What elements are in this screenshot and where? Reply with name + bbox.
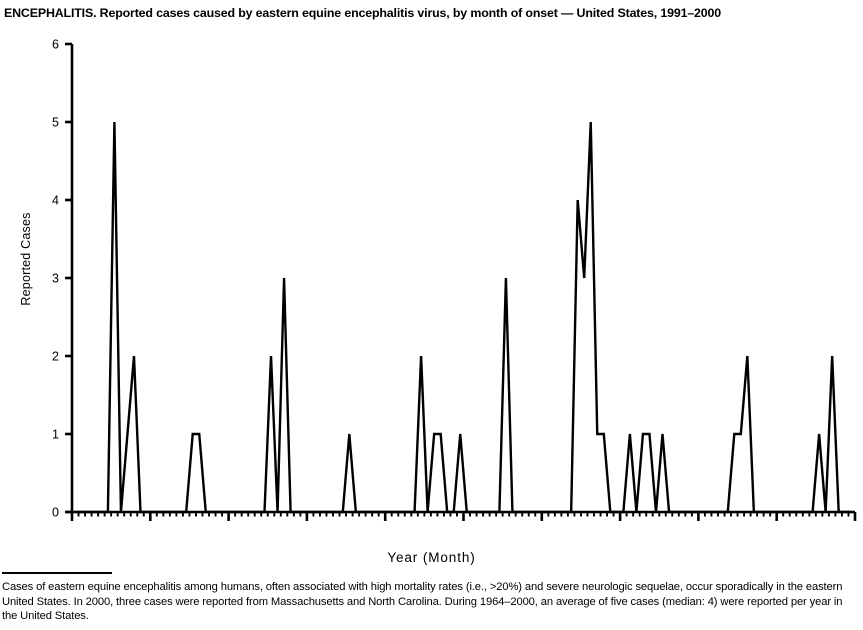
page-title: ENCEPHALITIS. Reported cases caused by e… <box>4 6 860 21</box>
footnote-text: Cases of eastern equine encephalitis amo… <box>2 580 859 624</box>
y-tick-label: 4 <box>52 194 59 208</box>
plot-area: 0123456 19911992199319941995199619971998… <box>0 26 863 526</box>
data-line <box>75 122 851 512</box>
y-tick-label: 6 <box>52 38 59 52</box>
y-tick-label: 0 <box>52 506 59 520</box>
chart-page: ENCEPHALITIS. Reported cases caused by e… <box>0 0 863 630</box>
y-tick-label: 5 <box>52 116 59 130</box>
y-tick-labels: 0123456 <box>52 38 59 520</box>
y-tick-label: 2 <box>52 350 59 364</box>
data-line-group <box>75 122 851 512</box>
y-tick-label: 1 <box>52 428 59 442</box>
x-axis-title: Year (Month) <box>0 550 863 565</box>
y-axis-title: Reported Cases <box>19 189 33 329</box>
y-tick-label: 3 <box>52 272 59 286</box>
footnote-divider <box>2 572 112 574</box>
chart-svg: 0123456 19911992199319941995199619971998… <box>0 26 863 526</box>
